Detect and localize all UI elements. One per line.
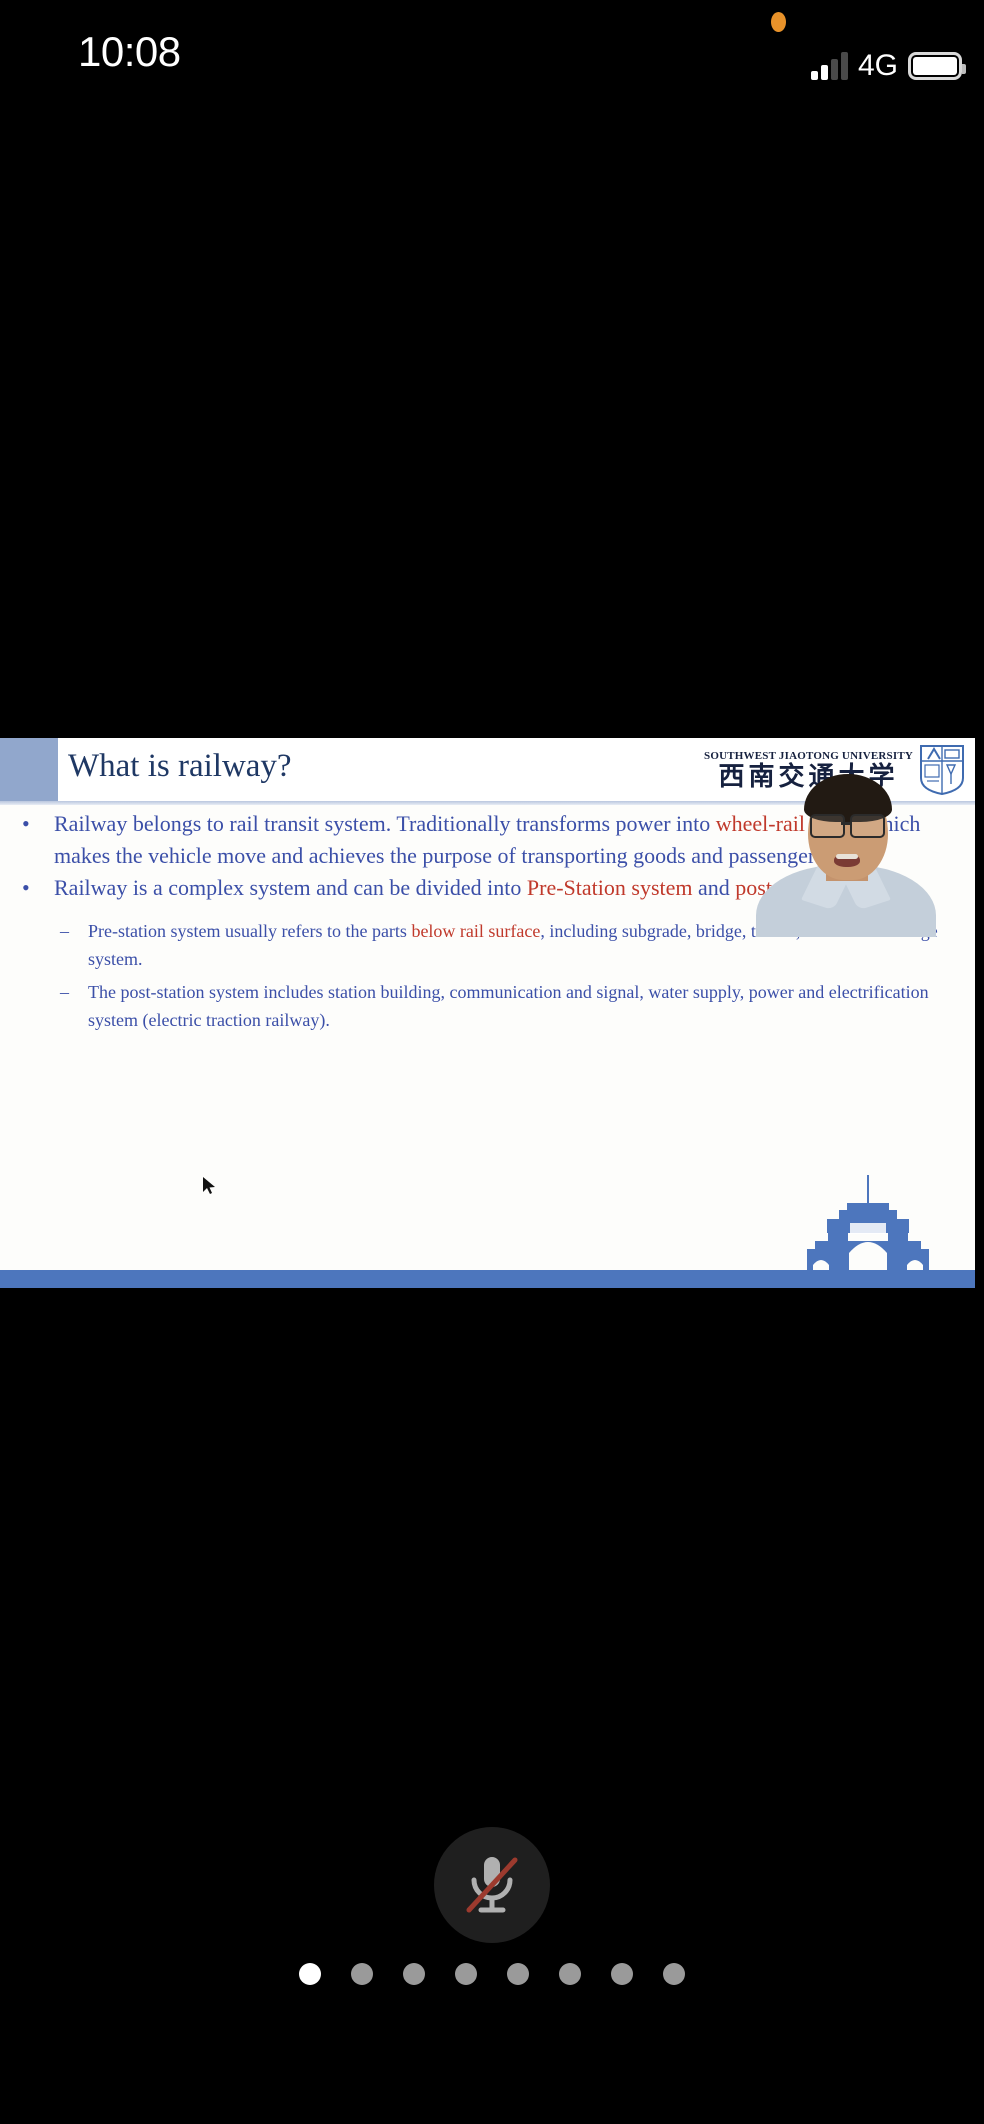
bullet-marker: –	[60, 917, 88, 945]
bullet-text: The post-station system includes station…	[88, 978, 961, 1034]
slide-title: What is railway?	[68, 748, 292, 785]
page-dot[interactable]	[559, 1963, 581, 1985]
presenter-video-overlay[interactable]	[748, 762, 943, 937]
glasses-icon	[810, 814, 845, 838]
status-bar-time: 10:08	[78, 28, 181, 76]
slide-header-accent-block	[0, 738, 58, 801]
status-bar: 10:08 4G	[0, 0, 984, 110]
bullet-marker: –	[60, 978, 88, 1006]
page-indicator-dots[interactable]	[0, 1963, 984, 1985]
slide-sub-bullet-2: – The post-station system includes stati…	[0, 978, 975, 1034]
slide-footer-bar	[0, 1270, 975, 1288]
signal-bars-icon	[811, 52, 848, 80]
mute-microphone-button[interactable]	[434, 1827, 550, 1943]
bullet-marker: •	[22, 872, 54, 904]
page-dot[interactable]	[403, 1963, 425, 1985]
microphone-muted-icon	[463, 1853, 521, 1917]
page-dot[interactable]	[611, 1963, 633, 1985]
battery-full-icon	[908, 52, 962, 80]
bullet-marker: •	[22, 808, 54, 840]
status-bar-indicators: 4G	[811, 40, 962, 80]
mouse-pointer-icon	[202, 1176, 218, 1196]
network-type-label: 4G	[858, 52, 898, 80]
page-dot[interactable]	[507, 1963, 529, 1985]
page-dot[interactable]	[663, 1963, 685, 1985]
privacy-indicator-dot	[771, 12, 786, 32]
page-dot[interactable]	[455, 1963, 477, 1985]
glasses-icon	[850, 814, 885, 838]
page-dot[interactable]	[351, 1963, 373, 1985]
university-gate-silhouette	[803, 1175, 933, 1280]
page-dot[interactable]	[299, 1963, 321, 1985]
university-name-english: SOUTHWEST JIAOTONG UNIVERSITY	[704, 751, 913, 762]
